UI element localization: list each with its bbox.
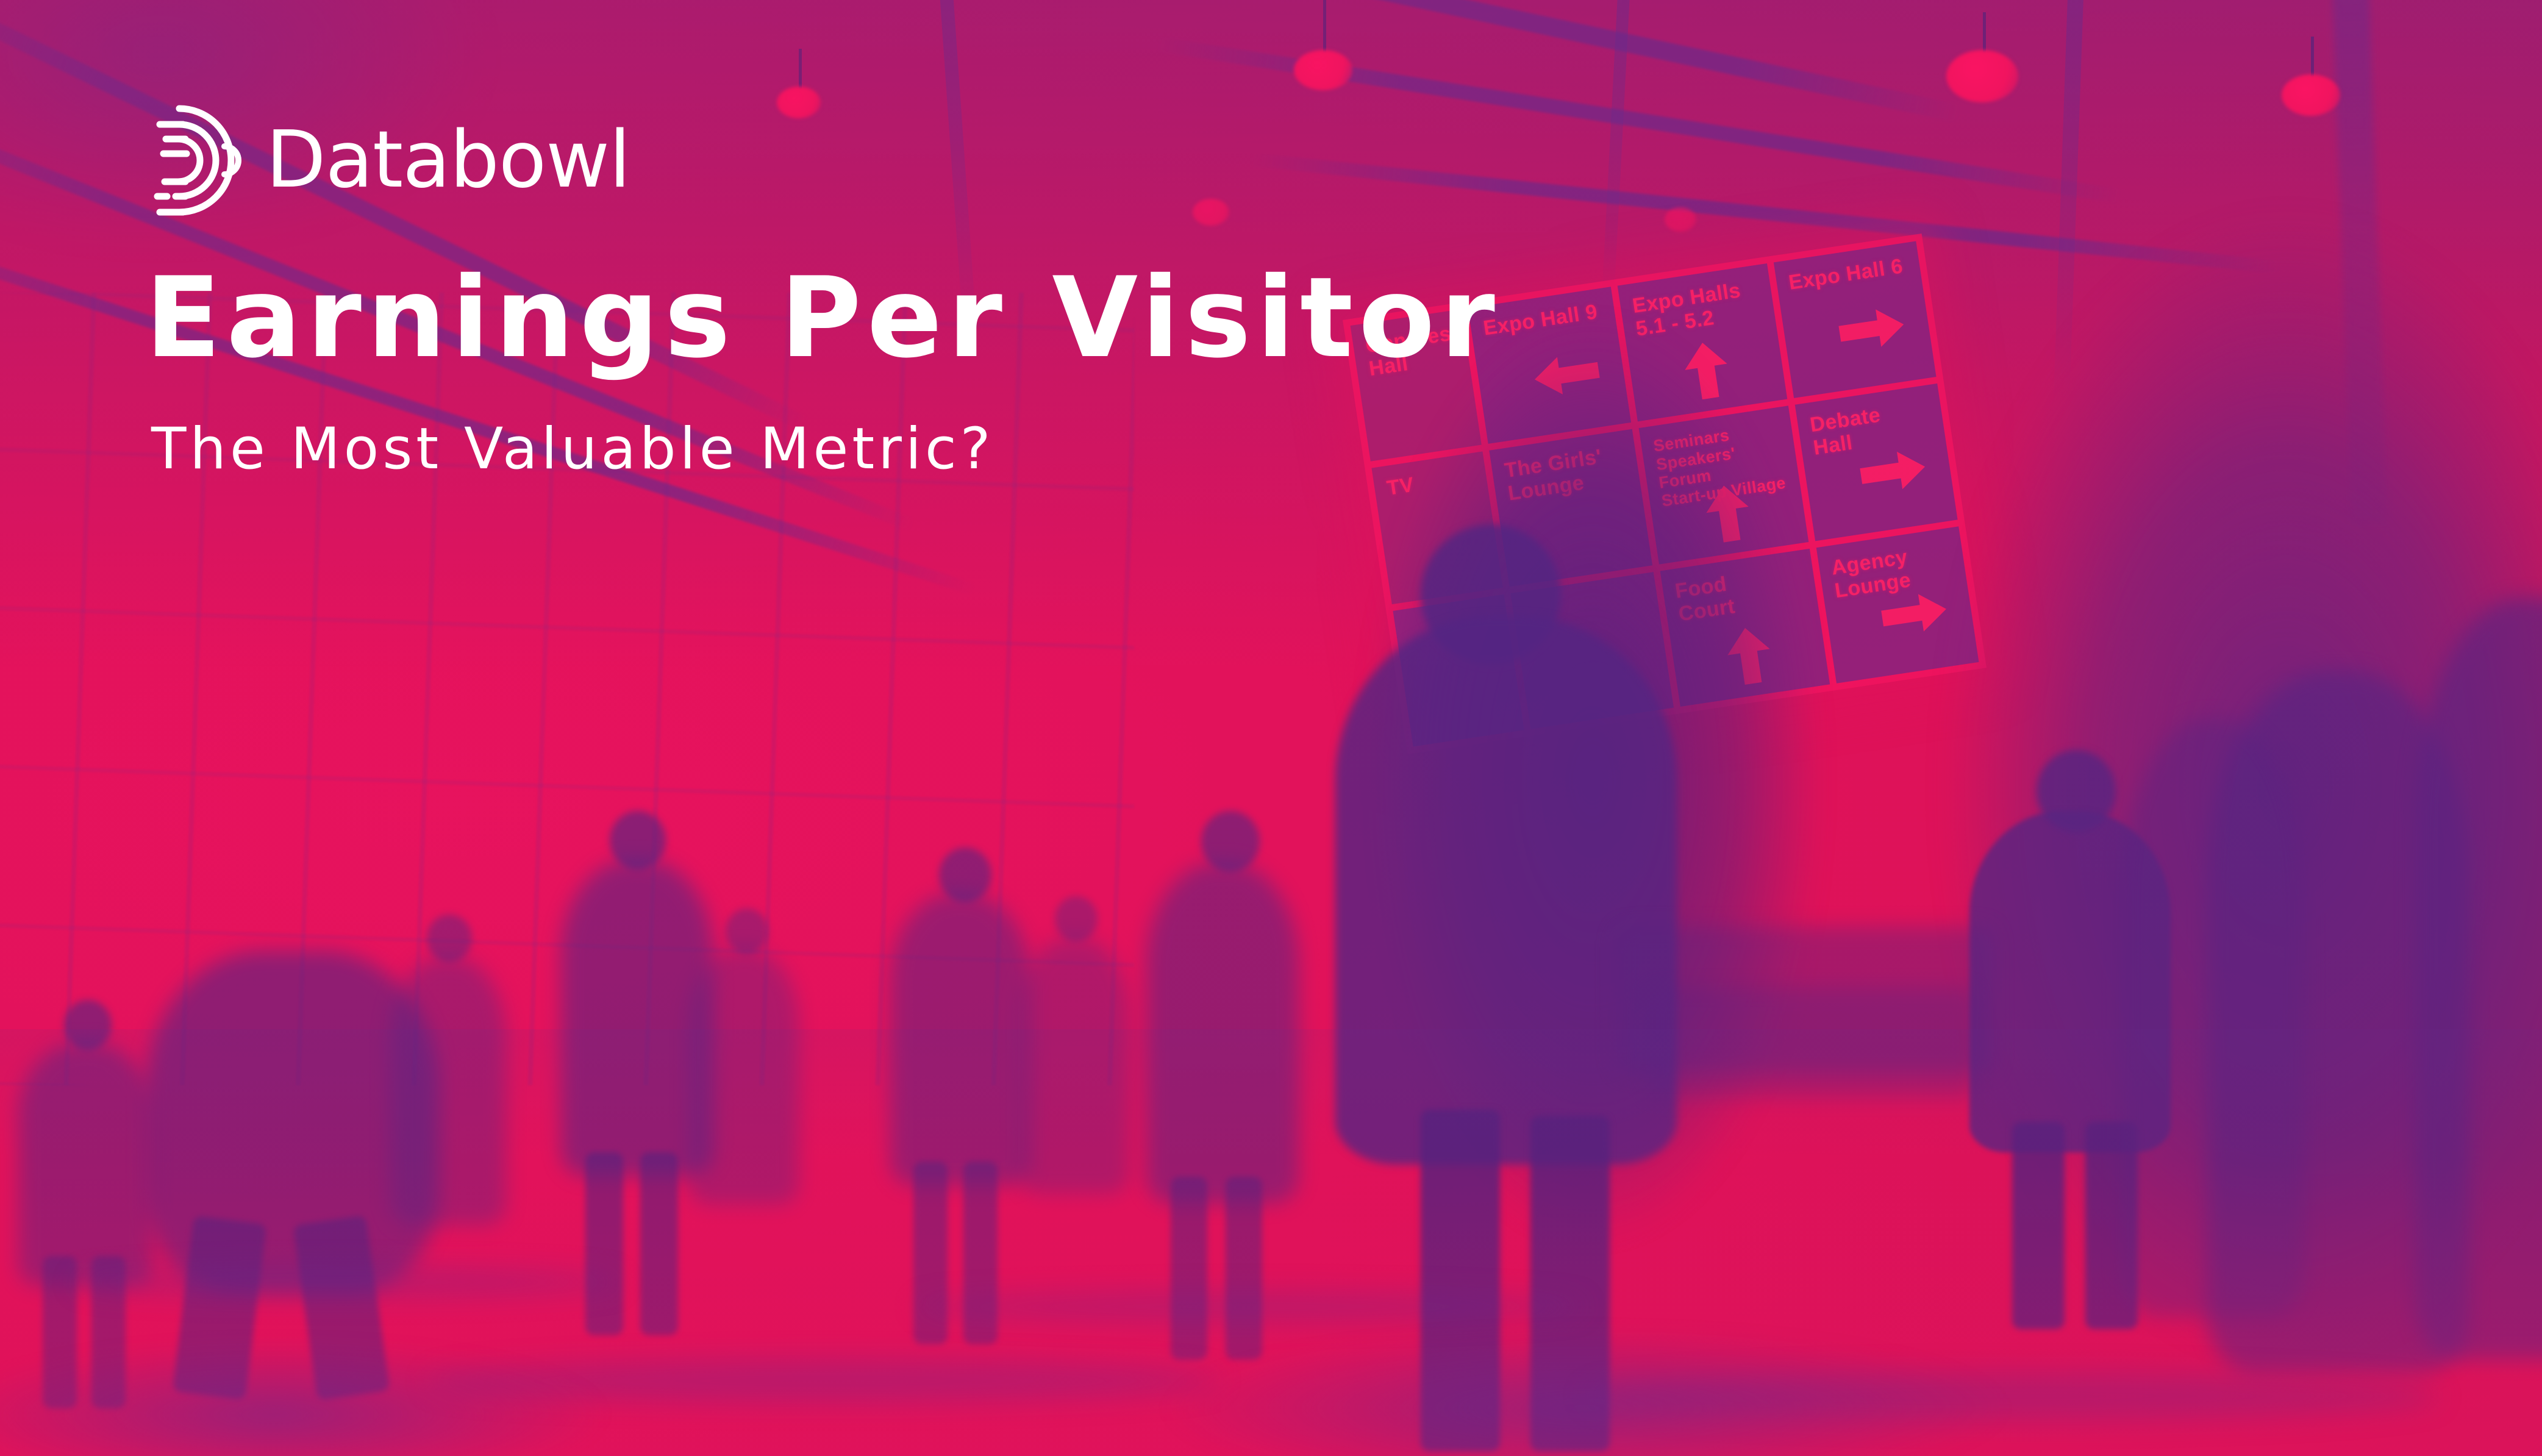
pendant-lamp-icon [1193, 199, 1229, 226]
pendant-lamp-stem [2311, 37, 2314, 78]
floor-shadow [0, 1341, 610, 1456]
brand-wordmark: Databowl [266, 121, 630, 199]
pendant-lamp-icon [777, 87, 821, 118]
background-photo: CongressHallExpo Hall 9Expo Halls5.1 - 5… [0, 0, 2542, 1456]
person-head [1055, 896, 1098, 941]
brand-lockup[interactable]: Databowl [151, 102, 630, 218]
floor-shadow [73, 1268, 622, 1296]
floor-shadow [915, 1293, 1585, 1321]
databowl-concentric-d-icon [151, 102, 243, 218]
pendant-lamp-icon [2282, 74, 2340, 116]
pendant-lamp-stem [1983, 12, 1986, 55]
pendant-lamp-icon [1665, 207, 1696, 232]
page-subtitle: The Most Valuable Metric? [151, 421, 994, 478]
page-title: Earnings Per Visitor [145, 262, 1501, 373]
pendant-lamp-icon [1294, 50, 1352, 90]
pendant-lamp-stem [799, 49, 802, 91]
person-head [427, 915, 472, 962]
slide-canvas: CongressHallExpo Hall 9Expo Halls5.1 - 5… [0, 0, 2542, 1456]
floor-shadow [1159, 1329, 2012, 1456]
person-head [726, 908, 768, 954]
pendant-lamp-icon [1946, 50, 2018, 102]
pendant-lamp-stem [1323, 0, 1326, 54]
